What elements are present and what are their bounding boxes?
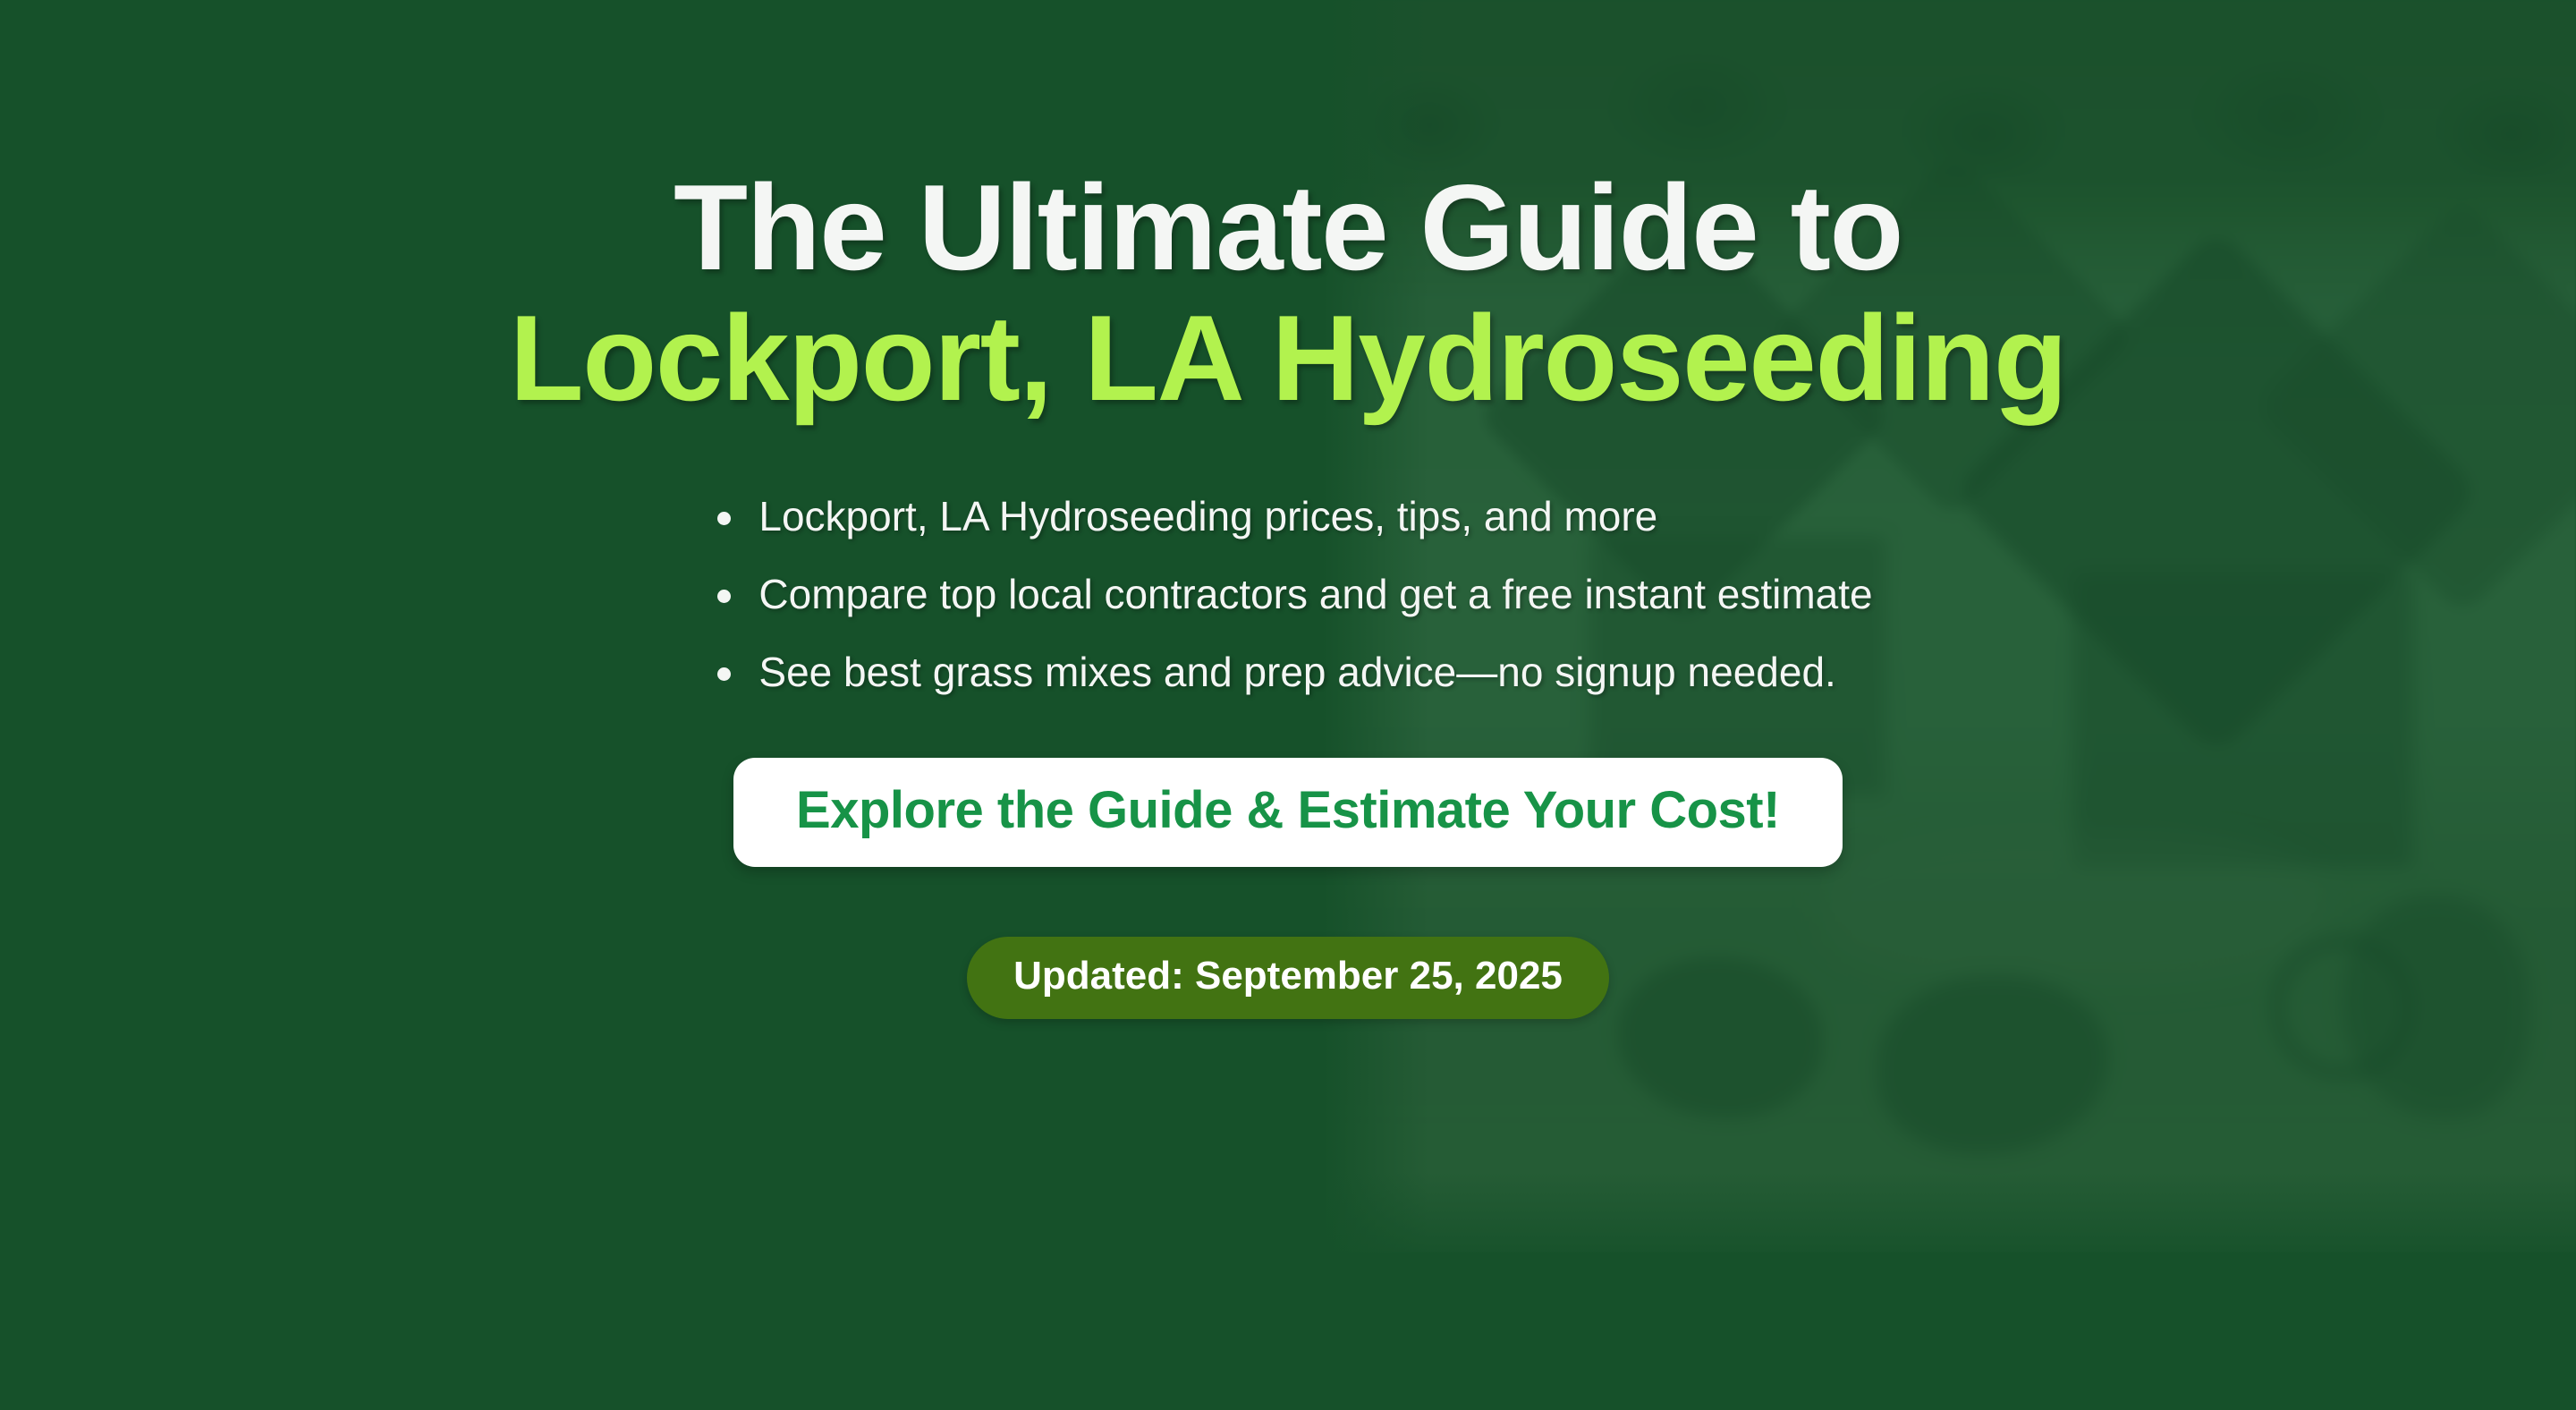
benefits-list: Lockport, LA Hydroseeding prices, tips, …: [703, 490, 1872, 724]
page-title: The Ultimate Guide to Lockport, LA Hydro…: [510, 163, 2067, 423]
hero-banner: The Ultimate Guide to Lockport, LA Hydro…: [0, 0, 2576, 1410]
headline-line-primary: The Ultimate Guide to: [510, 163, 2067, 293]
list-item: Compare top local contractors and get a …: [703, 568, 1872, 621]
headline-line-accent: Lockport, LA Hydroseeding: [510, 293, 2067, 424]
updated-date-badge: Updated: September 25, 2025: [967, 937, 1609, 1019]
list-item: Lockport, LA Hydroseeding prices, tips, …: [703, 490, 1872, 543]
list-item: See best grass mixes and prep advice—no …: [703, 646, 1872, 699]
banner-content: The Ultimate Guide to Lockport, LA Hydro…: [0, 0, 2576, 1410]
explore-guide-button[interactable]: Explore the Guide & Estimate Your Cost!: [733, 758, 1843, 867]
